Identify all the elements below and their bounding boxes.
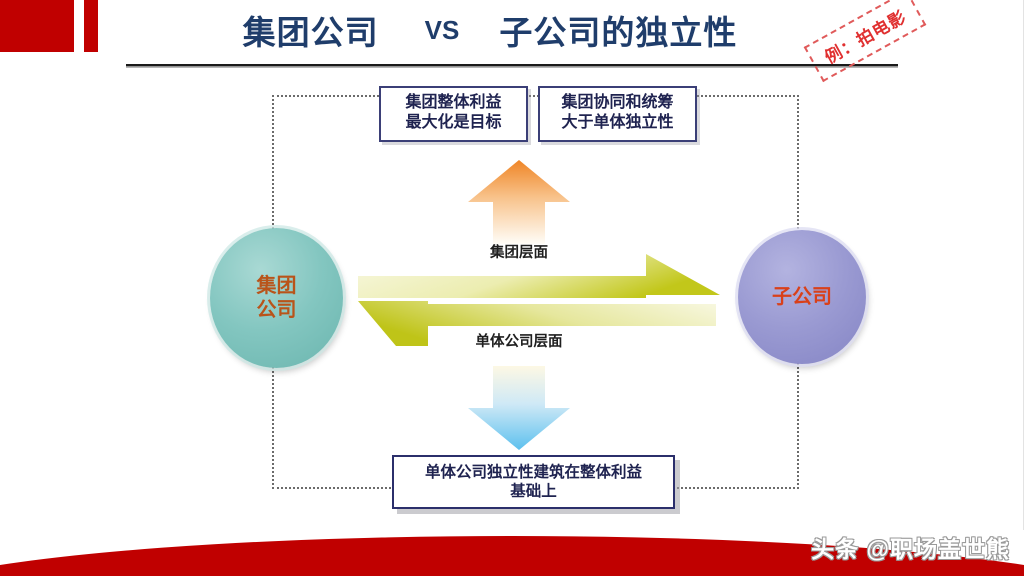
parent-company-line1: 集团 xyxy=(257,274,297,298)
group-interest-line1: 集团整体利益 xyxy=(389,93,518,113)
down-arrow-icon xyxy=(466,366,572,452)
group-synergy-line1: 集团协同和统筹 xyxy=(548,93,687,113)
subsidiary-independence-box: 单体公司独立性建筑在整体利益 基础上 xyxy=(392,455,675,509)
single-level-label: 单体公司层面 xyxy=(419,330,619,351)
title-vs-text: VS xyxy=(425,15,460,46)
title-left-text: 集团公司 xyxy=(243,6,379,54)
group-synergy-line2: 大于单体独立性 xyxy=(548,113,687,133)
group-interest-line2: 最大化是目标 xyxy=(389,113,518,133)
group-level-label: 集团层面 xyxy=(419,241,619,262)
watermark-text: 头条 @职场盖世熊 xyxy=(811,530,1010,564)
group-interest-box: 集团整体利益 最大化是目标 xyxy=(379,86,528,142)
slide-canvas: 集团公司 VS 子公司的独立性 例：拍电影 集团整体利益 最大化是目标 集团协同… xyxy=(0,0,1024,576)
parent-company-circle: 集团 公司 xyxy=(210,228,343,368)
subsidiary-independence-line1: 单体公司独立性建筑在整体利益 xyxy=(425,463,642,482)
page-title: 集团公司 VS 子公司的独立性 xyxy=(150,4,830,56)
logo-red-block xyxy=(0,0,74,52)
subsidiary-company-circle: 子公司 xyxy=(738,230,866,364)
logo-red-bar xyxy=(84,0,98,52)
title-right-text: 子公司的独立性 xyxy=(499,6,737,54)
subsidiary-company-label: 子公司 xyxy=(772,285,832,309)
subsidiary-independence-line2: 基础上 xyxy=(510,482,557,501)
parent-company-line2: 公司 xyxy=(257,298,297,322)
up-arrow-icon xyxy=(466,158,572,244)
title-underline xyxy=(126,64,898,68)
group-synergy-box: 集团协同和统筹 大于单体独立性 xyxy=(538,86,697,142)
